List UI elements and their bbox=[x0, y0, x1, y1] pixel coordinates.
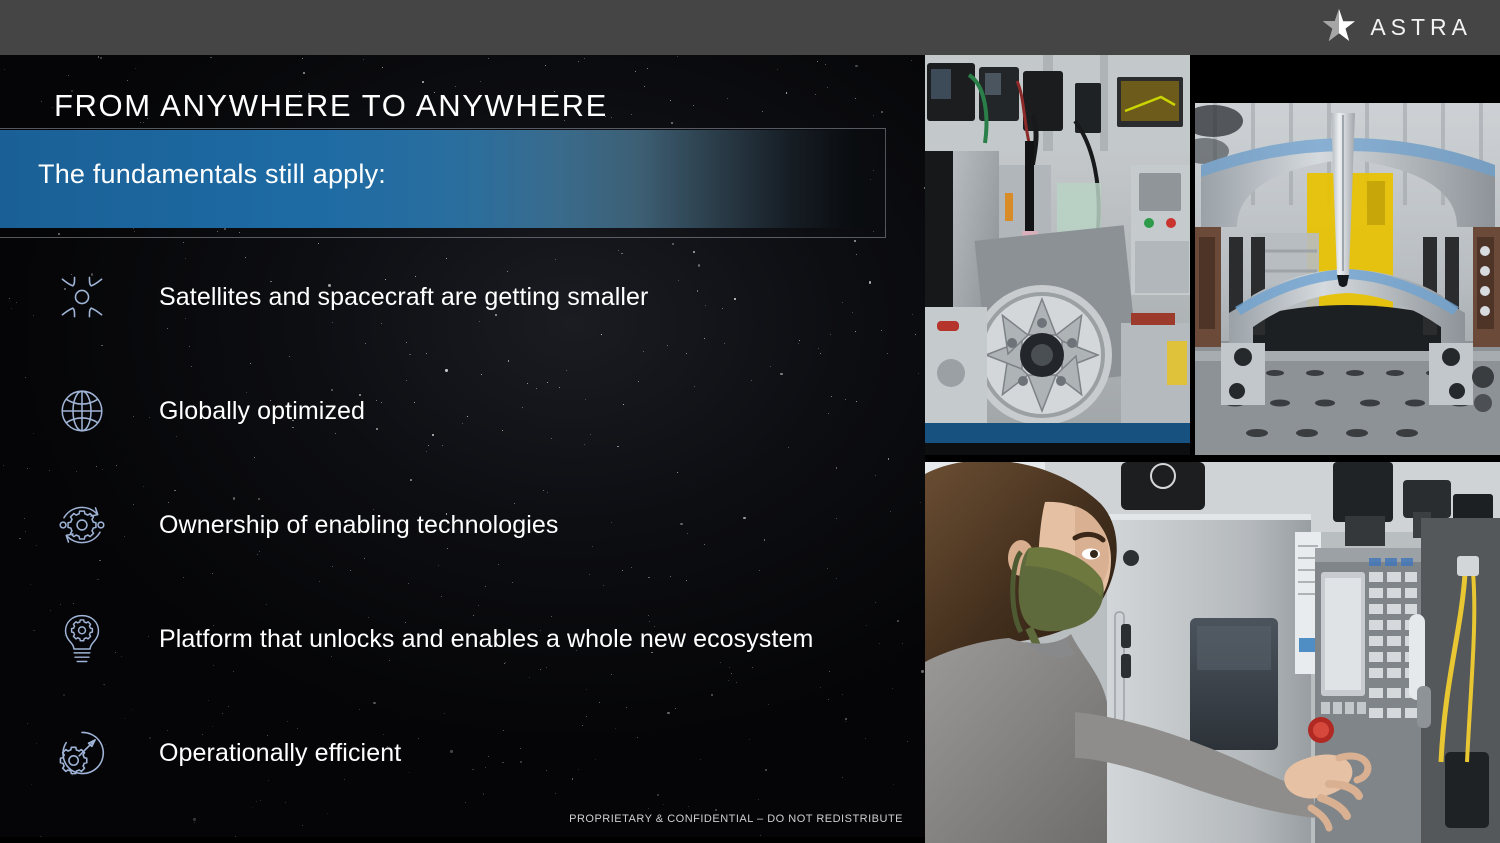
photo-arch bbox=[1195, 55, 1500, 455]
photo-machining bbox=[925, 55, 1190, 455]
presentation-slide: FROM ANYWHERE TO ANYWHERE The fundamenta… bbox=[0, 0, 1500, 843]
astra-star-icon bbox=[1322, 8, 1356, 47]
list-item-label: Ownership of enabling technologies bbox=[159, 511, 559, 540]
list-item-label: Platform that unlocks and enables a whol… bbox=[159, 625, 813, 654]
confidentiality-footer: PROPRIETARY & CONFIDENTIAL – DO NOT REDI… bbox=[0, 813, 903, 825]
gauge-gear-icon bbox=[45, 725, 119, 781]
globe-icon bbox=[45, 384, 119, 438]
list-item: Platform that unlocks and enables a whol… bbox=[0, 582, 925, 696]
banner-label: The fundamentals still apply: bbox=[38, 159, 386, 190]
brand-bar: ASTRA bbox=[0, 0, 1500, 55]
gear-rotation-icon bbox=[45, 498, 119, 552]
brand-name: ASTRA bbox=[1370, 16, 1472, 39]
photo-technician bbox=[925, 462, 1500, 843]
list-item: Ownership of enabling technologies bbox=[0, 468, 925, 582]
list-item-label: Operationally efficient bbox=[159, 739, 401, 768]
brand-logo: ASTRA bbox=[1322, 0, 1472, 55]
list-item-label: Globally optimized bbox=[159, 397, 365, 426]
lightbulb-gear-icon bbox=[45, 611, 119, 667]
photo-collage bbox=[925, 55, 1500, 843]
page-title: FROM ANYWHERE TO ANYWHERE bbox=[54, 88, 608, 124]
bullet-list: Satellites and spacecraft are getting sm… bbox=[0, 240, 925, 810]
list-item-label: Satellites and spacecraft are getting sm… bbox=[159, 283, 648, 312]
content-panel: FROM ANYWHERE TO ANYWHERE The fundamenta… bbox=[0, 55, 925, 843]
shrink-inward-icon bbox=[45, 269, 119, 325]
list-item: Satellites and spacecraft are getting sm… bbox=[0, 240, 925, 354]
bottom-divider bbox=[0, 837, 925, 843]
list-item: Globally optimized bbox=[0, 354, 925, 468]
list-item: Operationally efficient bbox=[0, 696, 925, 810]
